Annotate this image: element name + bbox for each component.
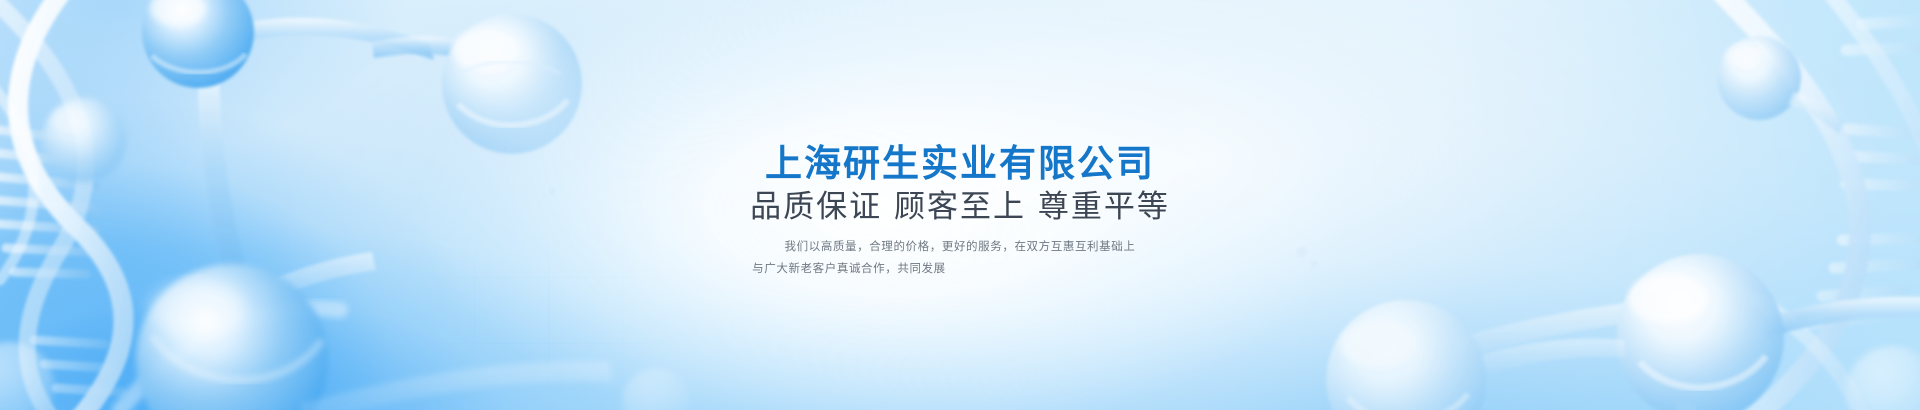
hero-banner: 上海研生实业有限公司 品质保证 顾客至上 尊重平等 我们以高质量，合理的价格，更…: [0, 0, 1920, 410]
company-description: 我们以高质量，合理的价格，更好的服务，在双方互惠互利基础上 与广大新老客户真诚合…: [750, 235, 1170, 280]
company-slogan: 品质保证 顾客至上 尊重平等: [750, 189, 1170, 226]
banner-copy: 上海研生实业有限公司 品质保证 顾客至上 尊重平等 我们以高质量，合理的价格，更…: [0, 0, 1920, 410]
company-description-line-1: 我们以高质量，合理的价格，更好的服务，在双方互惠互利基础上: [750, 235, 1170, 257]
company-description-line-2: 与广大新老客户真诚合作，共同发展: [750, 257, 1170, 279]
company-title: 上海研生实业有限公司: [750, 143, 1170, 184]
